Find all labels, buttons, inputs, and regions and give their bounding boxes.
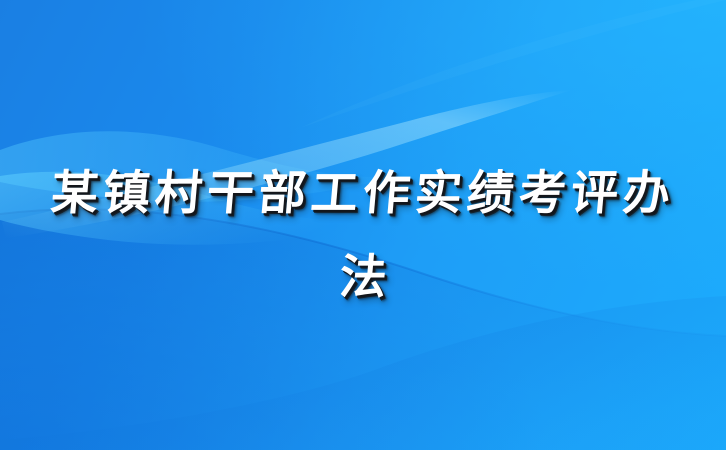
title-line-2: 法	[22, 236, 703, 320]
page-title: 某镇村干部工作实绩考评办 法	[0, 152, 726, 320]
title-line-1: 某镇村干部工作实绩考评办	[22, 152, 703, 236]
upper-highlight-sliver	[300, 0, 726, 128]
cover-slide: 某镇村干部工作实绩考评办 法	[0, 0, 726, 450]
